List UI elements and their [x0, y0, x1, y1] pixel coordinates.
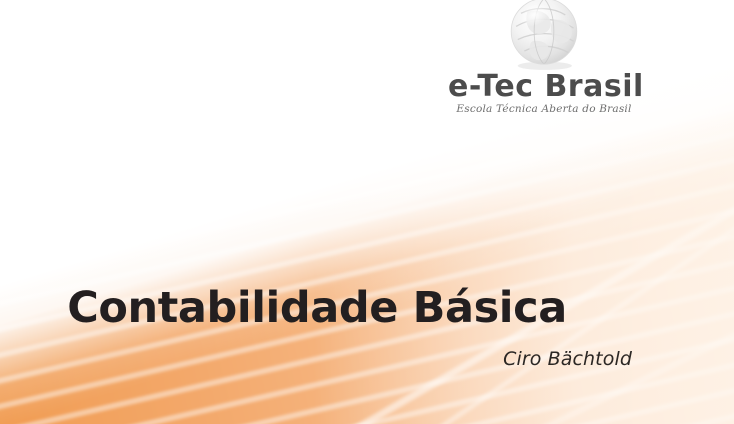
- book-cover: e-Tec Brasil Escola Técnica Aberta do Br…: [0, 0, 734, 424]
- etec-brasil-logo: e-Tec Brasil Escola Técnica Aberta do Br…: [448, 0, 640, 115]
- title-block: Contabilidade Básica: [0, 286, 634, 331]
- logo-wordmark: e-Tec Brasil: [448, 72, 640, 102]
- logo-wordmark-text: e-Tec Brasil: [448, 69, 644, 104]
- logo-tagline: Escola Técnica Aberta do Brasil: [448, 104, 640, 115]
- page-title: Contabilidade Básica: [0, 286, 634, 331]
- author-name: Ciro Bächtold: [503, 348, 632, 370]
- globe-sphere-icon: [503, 0, 585, 74]
